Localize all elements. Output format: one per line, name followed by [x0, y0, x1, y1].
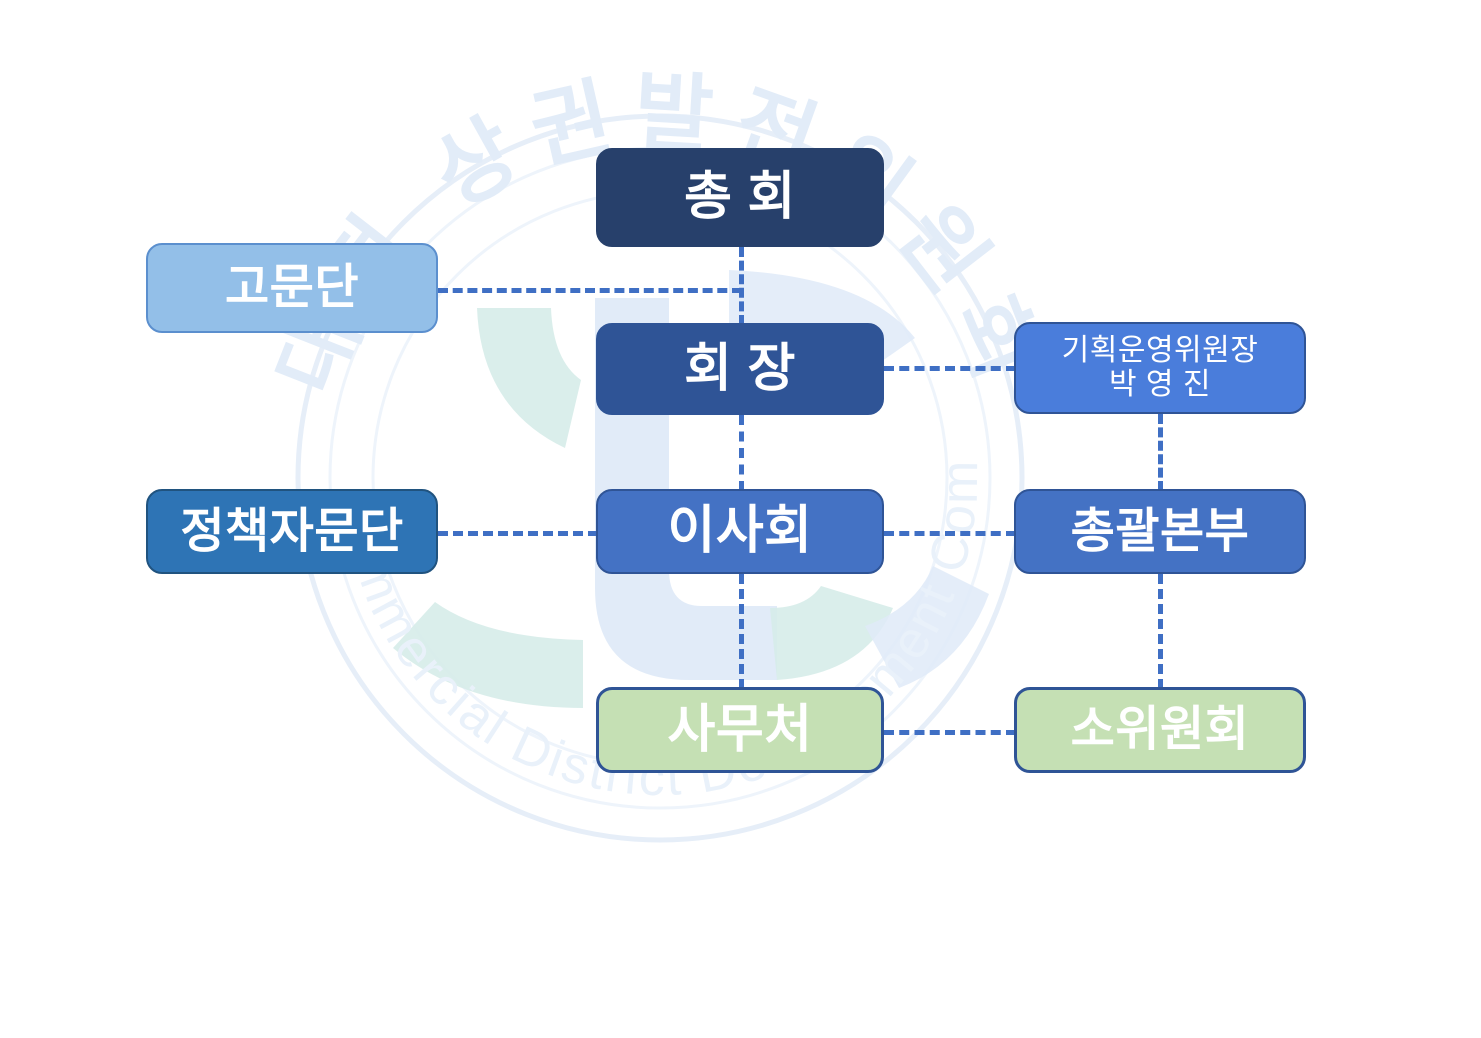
connector-secretariat-subcommittee: [884, 730, 1016, 735]
node-board-of-directors[interactable]: 이사회: [596, 489, 884, 574]
node-chairman[interactable]: 회 장: [596, 323, 884, 415]
connector-policy-board: [438, 531, 598, 536]
node-policy-advisory-group[interactable]: 정책자문단: [146, 489, 438, 574]
connector-chair-board: [739, 415, 744, 491]
connector-hq-subcommittee: [1158, 574, 1163, 689]
node-advisory-group[interactable]: 고문단: [146, 243, 438, 333]
node-secretariat[interactable]: 사무처: [596, 687, 884, 773]
node-general-assembly[interactable]: 총 회: [596, 148, 884, 247]
connector-planning-hq: [1158, 414, 1163, 491]
connector-board-secretariat: [739, 574, 744, 689]
node-subcommittee[interactable]: 소위원회: [1014, 687, 1306, 773]
node-planning-committee-chair[interactable]: 기획운영위원장 박 영 진: [1014, 322, 1306, 414]
node-general-headquarters[interactable]: 총괄본부: [1014, 489, 1306, 574]
connector-chair-planning: [884, 366, 1016, 371]
organization-chart: 대전 상권발전위원회 Daejeon Commercial District D…: [0, 0, 1481, 1038]
connector-board-hq: [884, 531, 1016, 536]
connector-advisory-spine: [438, 288, 742, 293]
connector-assembly-chair: [739, 247, 744, 325]
